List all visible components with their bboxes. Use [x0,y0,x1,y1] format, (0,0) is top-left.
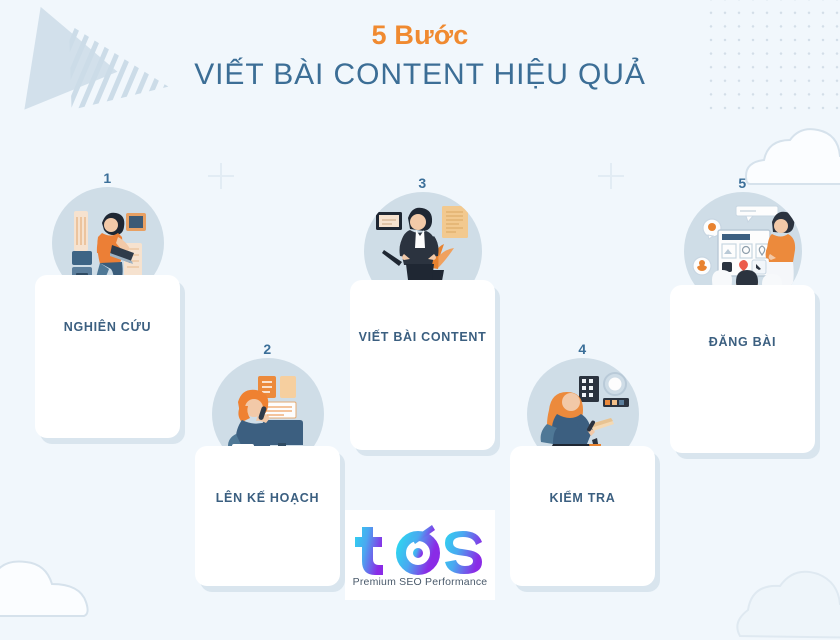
step-label-2: LÊN KẾ HOẠCH [195,491,340,505]
step-number-3: 3 [418,175,426,191]
step-number-5: 5 [738,175,746,191]
step-label-1: NGHIÊN CỨU [35,320,180,334]
plus-mark-right [598,163,624,189]
cloud-shape-bottom-left [0,528,114,618]
page-title: VIẾT BÀI CONTENT HIỆU QUẢ [0,57,840,93]
step-number-4: 4 [578,341,586,357]
step-card-3[interactable]: VIẾT BÀI CONTENT [350,280,495,450]
logo-tagline: Premium SEO Performance [353,576,488,588]
brand-logo[interactable]: Premium SEO Performance [345,510,495,600]
step-card-4[interactable]: KIỂM TRA [510,446,655,586]
tos-logo-icon [352,523,488,575]
step-card-2[interactable]: LÊN KẾ HOẠCH [195,446,340,586]
cloud-shape-top-right [742,118,840,196]
step-label-5: ĐĂNG BÀI [670,335,815,349]
step-label-3: VIẾT BÀI CONTENT [350,330,495,344]
cloud-shape-bottom-right [730,544,840,640]
page-kicker: 5 Bước [0,20,840,51]
step-card-1[interactable]: NGHIÊN CỨU [35,275,180,438]
step-number-2: 2 [263,341,271,357]
page-header: 5 Bước VIẾT BÀI CONTENT HIỆU QUẢ [0,20,840,93]
plus-mark-left [208,163,234,189]
step-label-4: KIỂM TRA [510,491,655,505]
step-card-5[interactable]: ĐĂNG BÀI [670,285,815,453]
step-number-1: 1 [103,170,111,186]
